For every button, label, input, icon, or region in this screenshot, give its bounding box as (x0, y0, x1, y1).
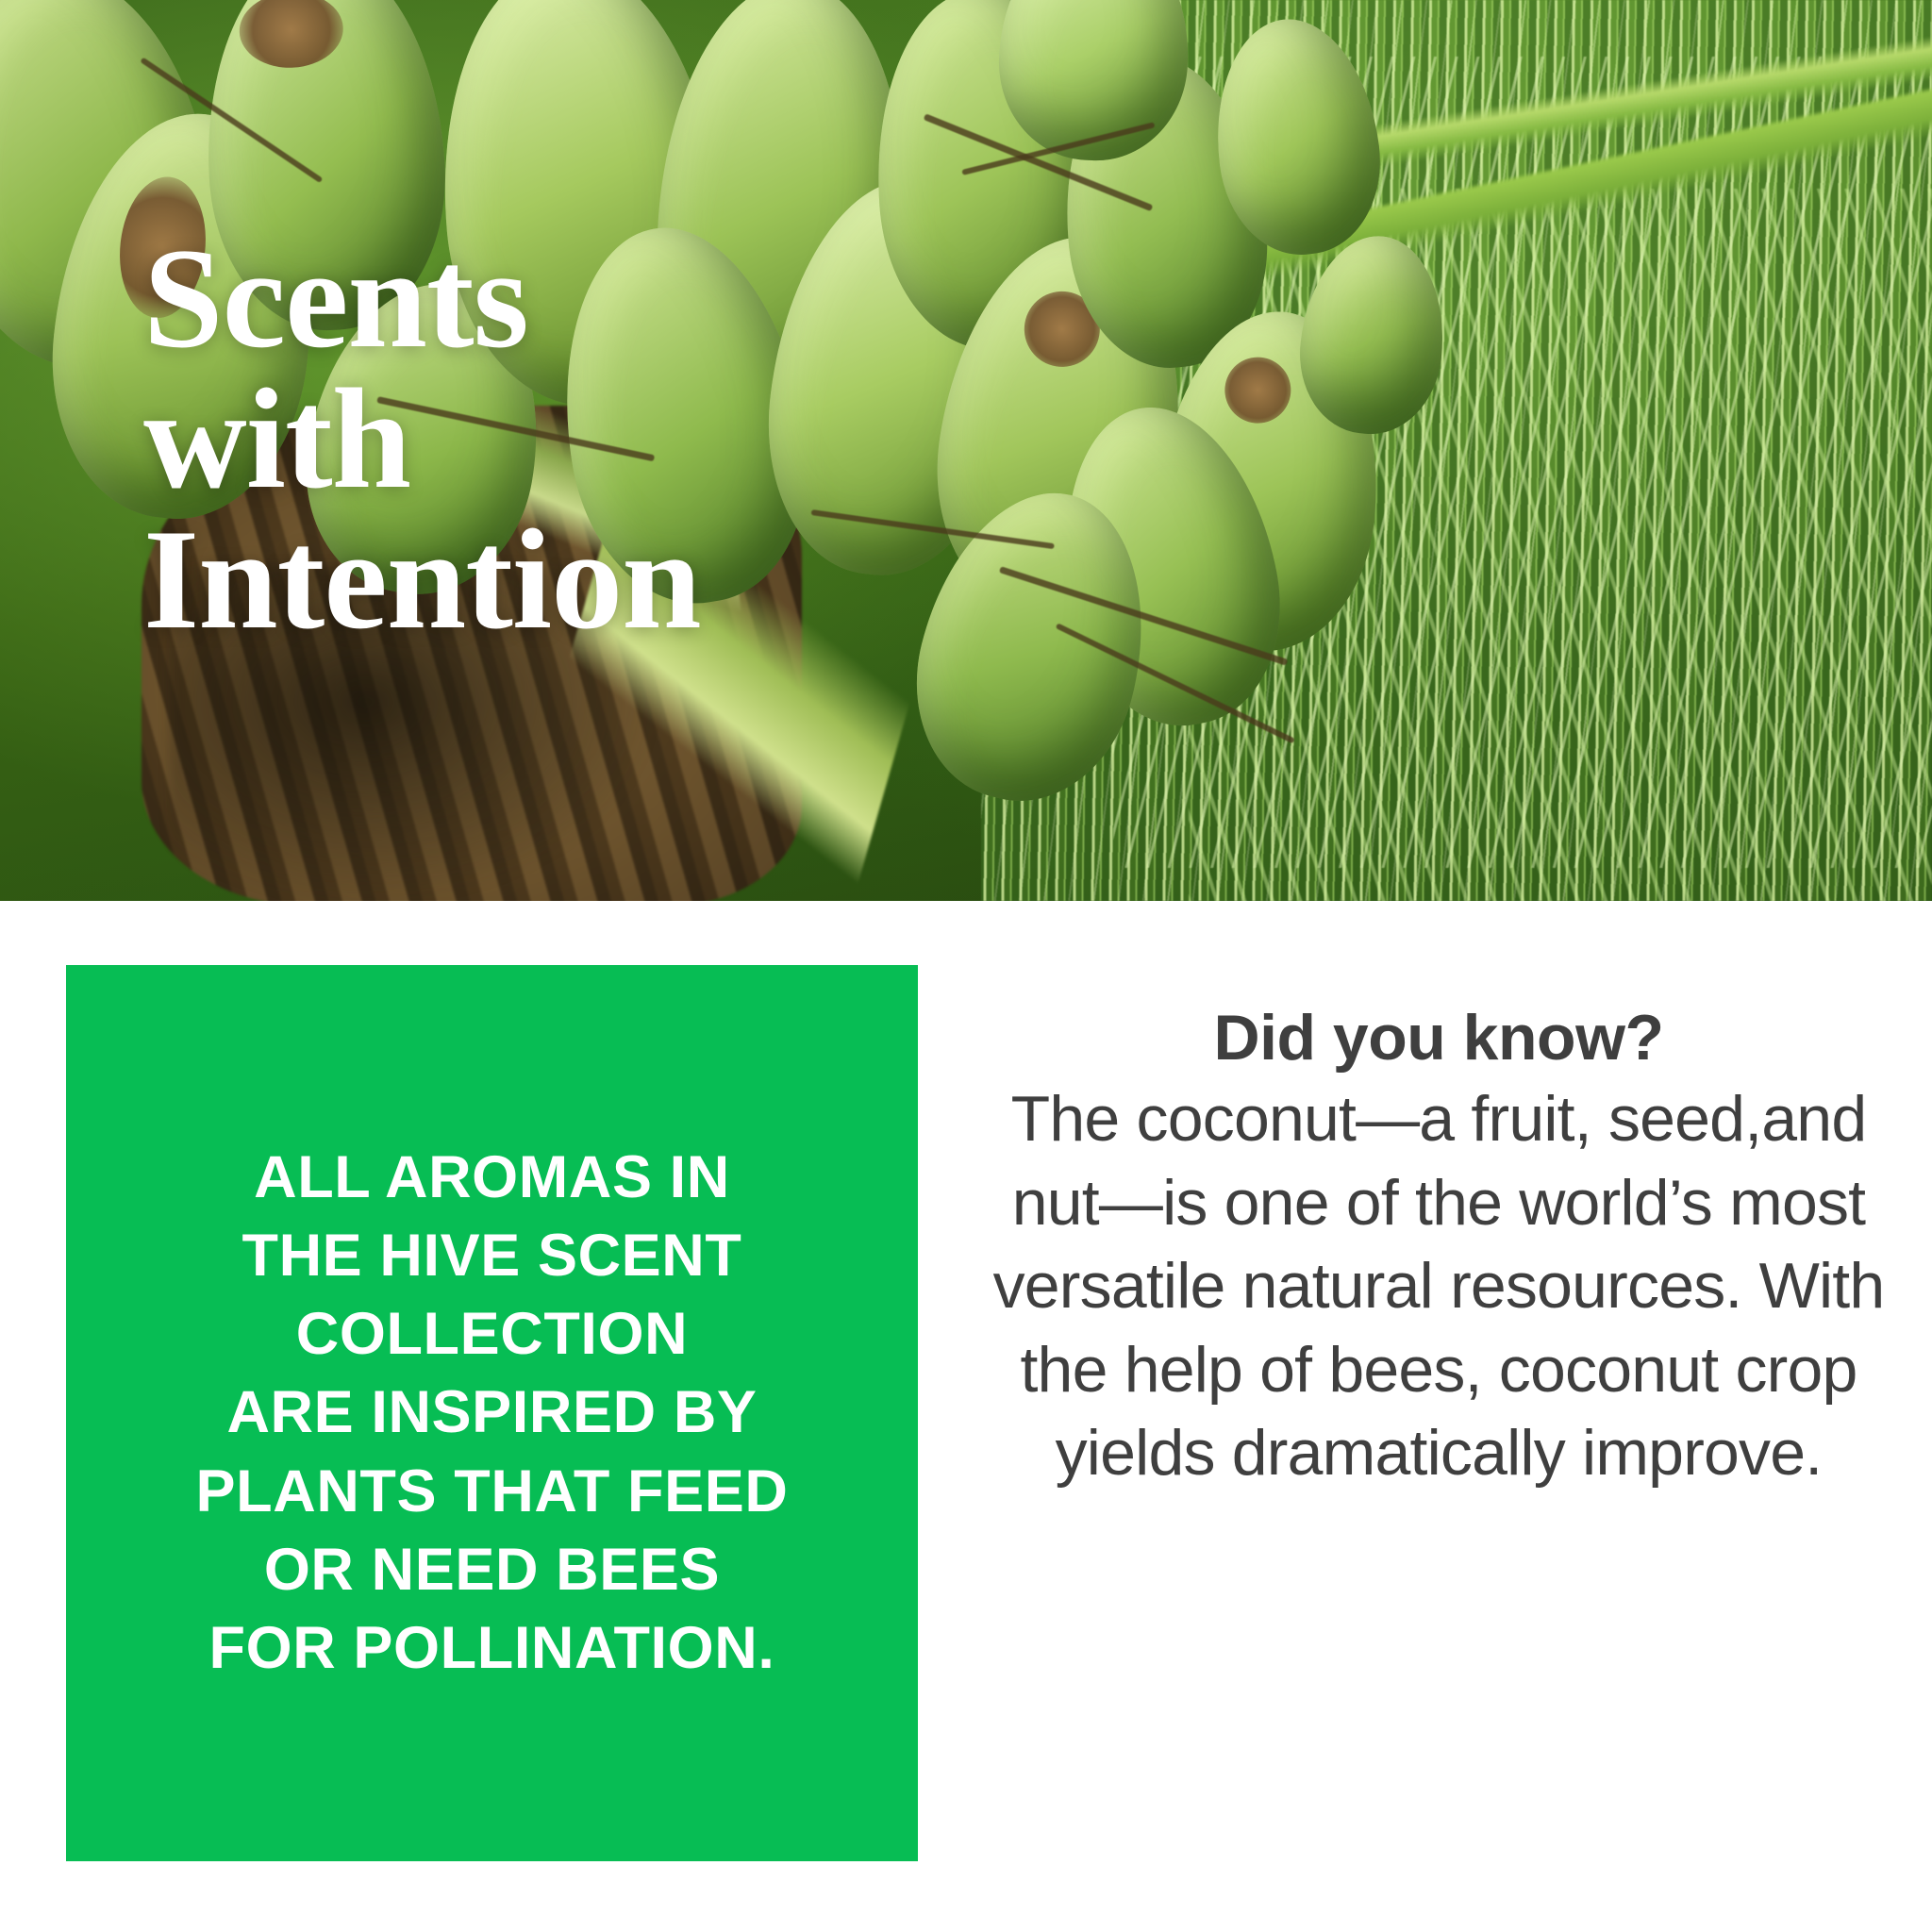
fact-body: The coconut—a fruit, seed,and nut—is one… (962, 1077, 1915, 1494)
content-section: ALL AROMAS IN THE HIVE SCENT COLLECTION … (0, 901, 1932, 1932)
page-title: Scents with Intention (143, 228, 701, 650)
fact-block: Did you know? The coconut—a fruit, seed,… (962, 1005, 1915, 1494)
callout-card: ALL AROMAS IN THE HIVE SCENT COLLECTION … (66, 965, 918, 1861)
hero-image: Scents with Intention (0, 0, 1932, 901)
fact-title: Did you know? (962, 1005, 1915, 1072)
callout-text: ALL AROMAS IN THE HIVE SCENT COLLECTION … (158, 1139, 826, 1688)
